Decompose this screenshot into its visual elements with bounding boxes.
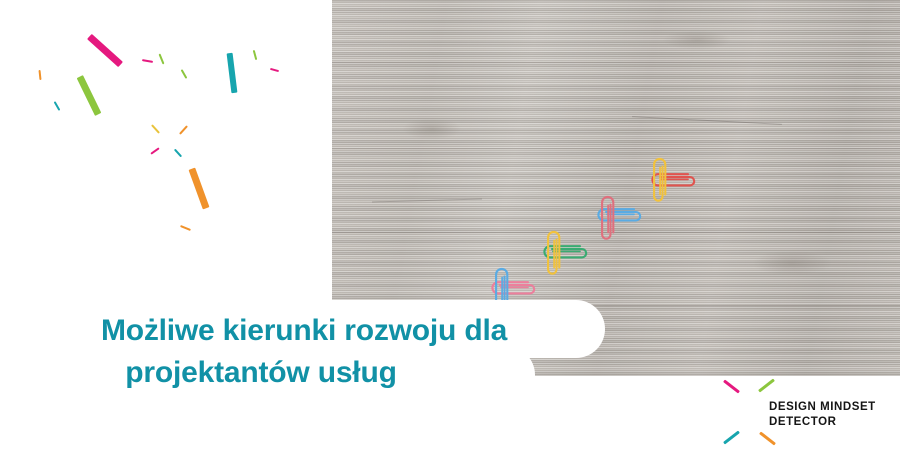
paperclip-pink (598, 193, 615, 245)
confetti-cluster (0, 0, 332, 300)
logo-design-mindset-detector[interactable]: DESIGN MINDSET DETECTOR (769, 400, 876, 430)
headline-line-1: Możliwe kierunki rozwoju dla (0, 310, 620, 352)
confetti-green-s1 (159, 54, 165, 65)
headline-line-2: projektantów usług (0, 352, 620, 394)
confetti-green-large (77, 75, 102, 116)
poster-canvas: Możliwe kierunki rozwoju dla projektantó… (0, 0, 900, 470)
confetti-teal-s2 (174, 149, 182, 158)
confetti-orange-s2 (179, 125, 188, 135)
confetti-magenta-s1 (142, 59, 153, 63)
logo-line-2: DETECTOR (769, 415, 876, 430)
paperclip-yellow (650, 155, 667, 207)
confetti-orange-s1 (38, 70, 41, 80)
confetti-orange-s3 (180, 225, 191, 231)
confetti-yellow-s1 (151, 124, 160, 134)
confetti-orange-large (189, 168, 210, 210)
paperclip-yellow-2 (544, 228, 561, 280)
confetti-teal-large (227, 53, 238, 93)
logo-line-1: DESIGN MINDSET (769, 400, 876, 415)
confetti-teal-s1 (54, 101, 61, 111)
confetti-magenta-s2 (270, 68, 279, 72)
page-title: Możliwe kierunki rozwoju dla projektantó… (0, 300, 620, 404)
confetti-magenta-large (87, 34, 123, 67)
confetti-green-s3 (253, 50, 258, 60)
confetti-magenta-s3 (150, 147, 159, 154)
confetti-green-s2 (181, 69, 188, 79)
